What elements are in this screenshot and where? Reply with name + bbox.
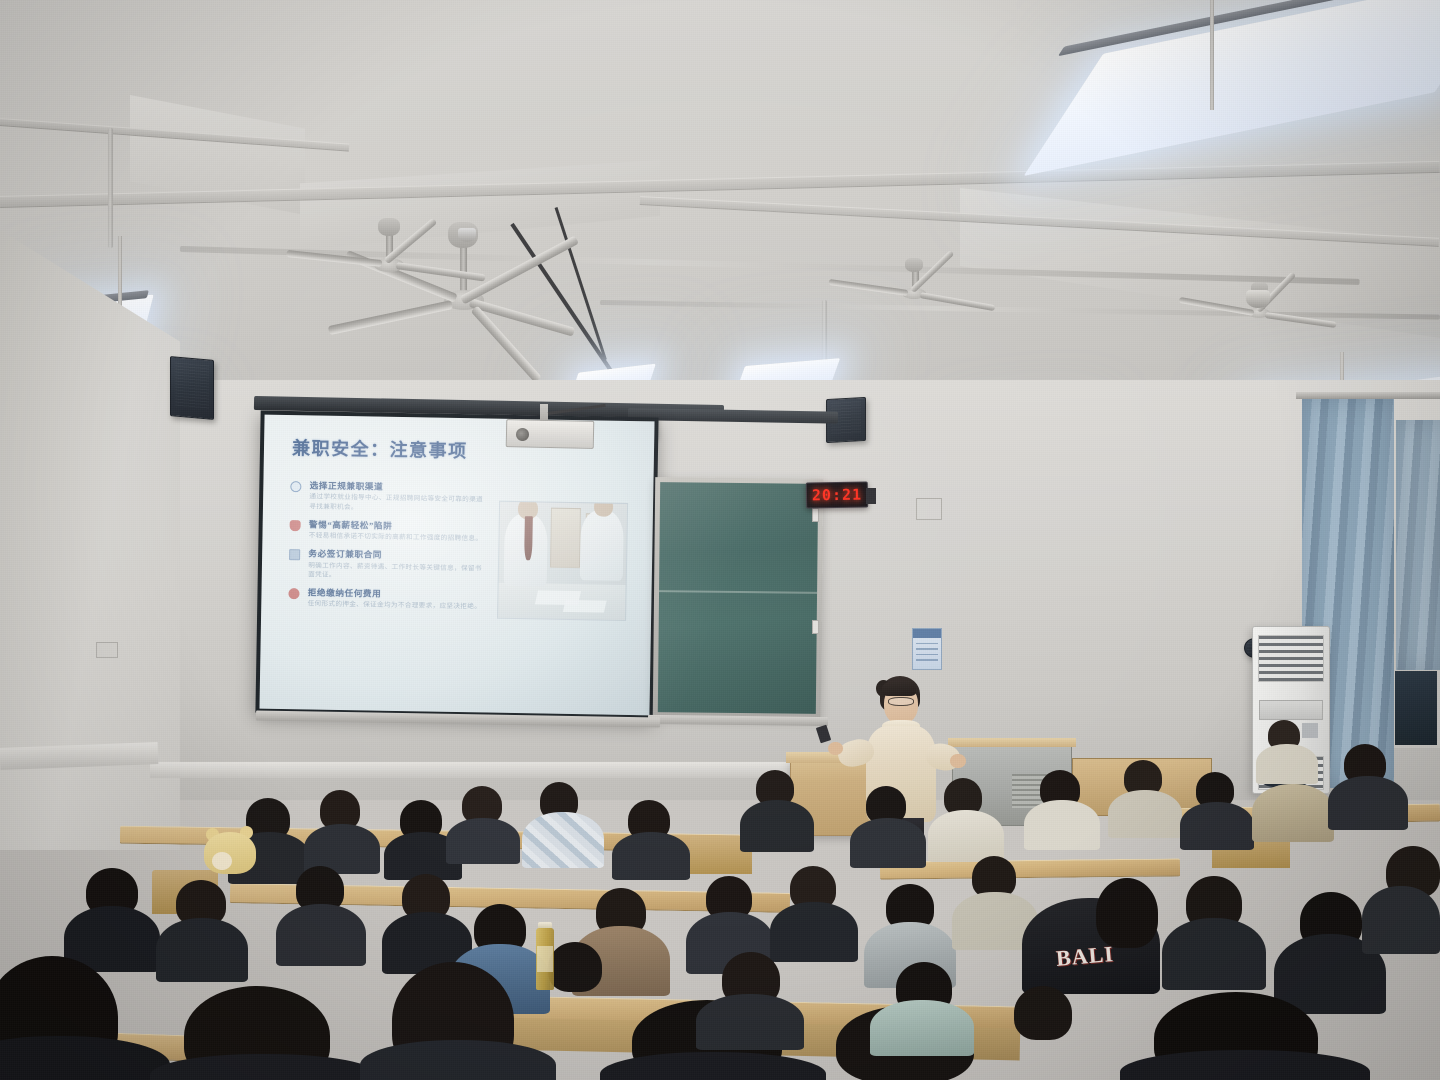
student-body-mint xyxy=(870,1000,974,1056)
slide-bullet-4-heading: 拒绝缴纳任何费用 xyxy=(308,587,484,601)
projector-lens xyxy=(516,428,529,441)
student-body-foreground xyxy=(360,1040,556,1080)
presenter-glasses xyxy=(888,697,914,706)
digital-clock-time: 20:21 xyxy=(812,486,862,505)
student-head xyxy=(548,942,602,992)
slide-photo-person-2-shirt xyxy=(580,510,624,580)
slide-bullet-2-heading: 警惕“高薪轻松”陷阱 xyxy=(309,519,485,533)
student-body xyxy=(1162,918,1266,990)
wall-outlet xyxy=(96,642,118,658)
slide-photo-window xyxy=(550,508,581,569)
student-body xyxy=(1362,886,1440,954)
student-body xyxy=(1024,800,1100,850)
wall-notice-header xyxy=(913,629,941,638)
student-body xyxy=(1180,802,1254,850)
wall-notice-sign xyxy=(912,628,942,670)
chalkboard xyxy=(653,477,824,719)
slide-bullet-3: 务必签订兼职合同 明确工作内容、薪资待遇、工作时长等关键信息，保留书面凭证。 xyxy=(289,548,485,583)
presentation-slide: 兼职安全：注意事项 选择正规兼职渠道 通过学校就业指导中心、正规招聘网站等安全可… xyxy=(259,415,654,716)
plush-bear[interactable] xyxy=(204,832,256,874)
student-body xyxy=(446,818,520,864)
wall-notice-line-4 xyxy=(916,659,938,661)
ceiling-camera-dome-2 xyxy=(458,228,476,242)
presenter-right-hand xyxy=(950,754,966,768)
slide-photo-paper-2 xyxy=(563,600,606,612)
light-hanger-1 xyxy=(118,236,122,306)
wall-control-panel[interactable] xyxy=(916,498,942,520)
wall-notice-line-1 xyxy=(916,643,938,645)
student-head xyxy=(1096,878,1158,948)
air-conditioner-display-panel xyxy=(1259,700,1323,720)
shield-warning-icon xyxy=(290,520,301,531)
slide-bullet-3-sub: 明确工作内容、薪资待遇、工作时长等关键信息，保留书面凭证。 xyxy=(308,561,484,583)
slide-stock-photo xyxy=(497,501,628,621)
chalkboard-panel-divider xyxy=(659,590,817,594)
air-conditioner-label xyxy=(1302,723,1319,738)
chalkboard-latch[interactable] xyxy=(812,508,819,522)
student-body-tan xyxy=(1252,784,1334,842)
slide-bullet-3-heading: 务必签订兼职合同 xyxy=(308,548,484,562)
student-body xyxy=(770,902,858,962)
presenter-hair-front xyxy=(882,680,916,696)
student-body xyxy=(696,994,804,1050)
slide-bullet-1-heading: 选择正规兼职渠道 xyxy=(310,480,486,494)
slide-bullet-2: 警惕“高薪轻松”陷阱 不轻易相信承诺不切实际的高薪和工作强度的招聘信息。 xyxy=(290,519,485,545)
ceiling-fan-2-motor xyxy=(378,218,400,236)
student-head xyxy=(1014,986,1072,1040)
wall-notice-line-2 xyxy=(916,648,938,650)
slide-photo-person-1-tie xyxy=(524,516,532,560)
digital-clock-mount xyxy=(866,488,876,504)
student-body xyxy=(740,800,814,852)
deny-icon xyxy=(289,588,300,599)
slide-title: 兼职安全：注意事项 xyxy=(292,434,468,463)
plush-bear-muzzle xyxy=(212,852,232,870)
student-body xyxy=(156,918,248,982)
student-body xyxy=(276,904,366,966)
student-body xyxy=(850,818,926,868)
student-body xyxy=(1256,744,1318,784)
student-body xyxy=(1328,776,1408,830)
window-curtain-far xyxy=(1396,420,1440,670)
ceiling-fan-3-motor xyxy=(905,258,923,272)
chalkboard-surface xyxy=(658,482,818,714)
student-body-floral xyxy=(522,812,604,868)
slide-photo-person-2-head xyxy=(594,501,613,517)
projection-screen[interactable]: 兼职安全：注意事项 选择正规兼职渠道 通过学校就业指导中心、正规招聘网站等安全可… xyxy=(255,411,658,720)
circle-check-icon xyxy=(291,481,302,492)
lecture-hall-photo: 兼职安全：注意事项 选择正规兼职渠道 通过学校就业指导中心、正规招聘网站等安全可… xyxy=(0,0,1440,1080)
ceiling-camera-dome xyxy=(1246,290,1270,308)
wall-pipe-vertical-left xyxy=(108,128,113,248)
air-conditioner-upper-grille xyxy=(1258,635,1325,681)
light-hanger-2 xyxy=(1210,0,1214,110)
slide-bullet-4-sub: 任何形式的押金、保证金均为不合理要求，应坚决拒绝。 xyxy=(308,600,484,613)
digital-clock: 20:21 xyxy=(806,481,868,508)
bottle-label xyxy=(537,946,553,972)
wall-speaker-left xyxy=(170,356,214,420)
presenter-left-hand xyxy=(828,742,843,755)
wall-notice-line-3 xyxy=(916,654,938,656)
chalkboard-latch-lower[interactable] xyxy=(812,620,819,634)
wall-baseboard xyxy=(150,762,830,778)
document-icon xyxy=(289,549,300,560)
slide-bullet-2-sub: 不轻易相信承诺不切实际的高薪和工作强度的招聘信息。 xyxy=(309,532,485,545)
slide-bullet-1: 选择正规兼职渠道 通过学校就业指导中心、正规招聘网站等安全可靠的渠道寻找兼职机会… xyxy=(290,480,486,515)
curtain-rail xyxy=(1296,392,1440,399)
slide-bullet-1-sub: 通过学校就业指导中心、正规招聘网站等安全可靠的渠道寻找兼职机会。 xyxy=(309,493,485,515)
slide-bullet-4: 拒绝缴纳任何费用 任何形式的押金、保证金均为不合理要求，应坚决拒绝。 xyxy=(289,587,484,613)
student-body xyxy=(612,832,690,880)
student-body-cream xyxy=(928,810,1004,862)
slide-bullet-list: 选择正规兼职渠道 通过学校就业指导中心、正规招聘网站等安全可靠的渠道寻找兼职机会… xyxy=(288,480,485,620)
window-right xyxy=(1392,668,1440,748)
student-body xyxy=(1108,790,1182,838)
